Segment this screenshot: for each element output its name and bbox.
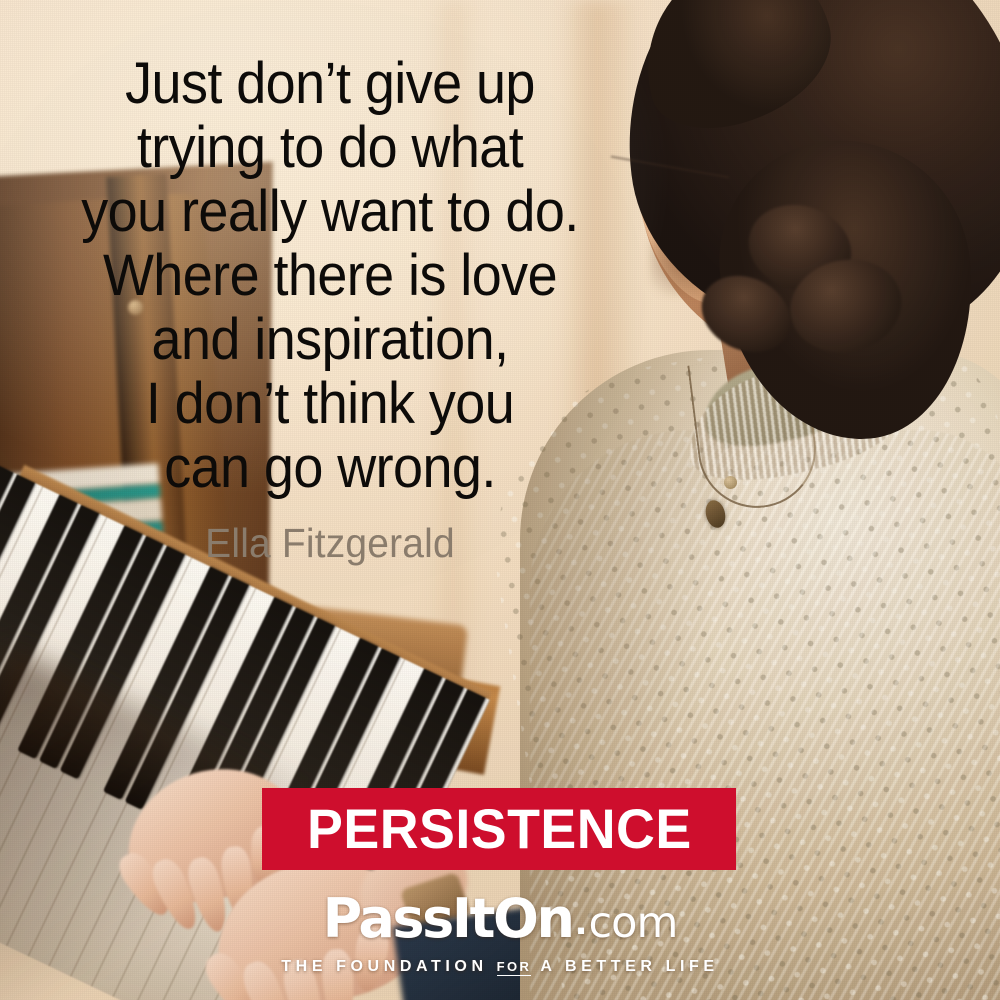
quote-line-4: Where there is love <box>23 244 637 308</box>
logo-word-on: On <box>493 887 573 950</box>
quote-block: Just don’t give up trying to do what you… <box>0 52 660 567</box>
quote-line-3: you really want to do. <box>23 180 637 244</box>
logo-word-it: It <box>452 887 493 950</box>
value-banner: PERSISTENCE <box>262 788 736 870</box>
quote-line-5: and inspiration, <box>23 308 637 372</box>
quote-line-1: Just don’t give up <box>23 52 637 116</box>
value-banner-label: PERSISTENCE <box>307 801 692 857</box>
tagline-part-for: FOR <box>497 959 532 976</box>
passiton-logo[interactable]: PassItOn.com THE FOUNDATION FOR A BETTER… <box>0 890 1000 976</box>
logo-wordmark: PassItOn.com <box>0 890 1000 955</box>
quote-line-6: I don’t think you <box>23 372 637 436</box>
quote-line-2: trying to do what <box>23 116 637 180</box>
inspirational-quote-poster: Just don’t give up trying to do what you… <box>0 0 1000 1000</box>
quote-attribution: Ella Fitzgerald <box>17 520 644 567</box>
logo-tld: com <box>589 898 678 948</box>
logo-tagline: THE FOUNDATION FOR A BETTER LIFE <box>0 958 1000 976</box>
logo-dot: . <box>575 903 588 943</box>
logo-word-pass: Pass <box>323 887 452 950</box>
quote-line-7: can go wrong. <box>23 436 637 500</box>
tagline-part-before: THE FOUNDATION <box>281 958 487 975</box>
tagline-part-after: A BETTER LIFE <box>540 958 718 975</box>
